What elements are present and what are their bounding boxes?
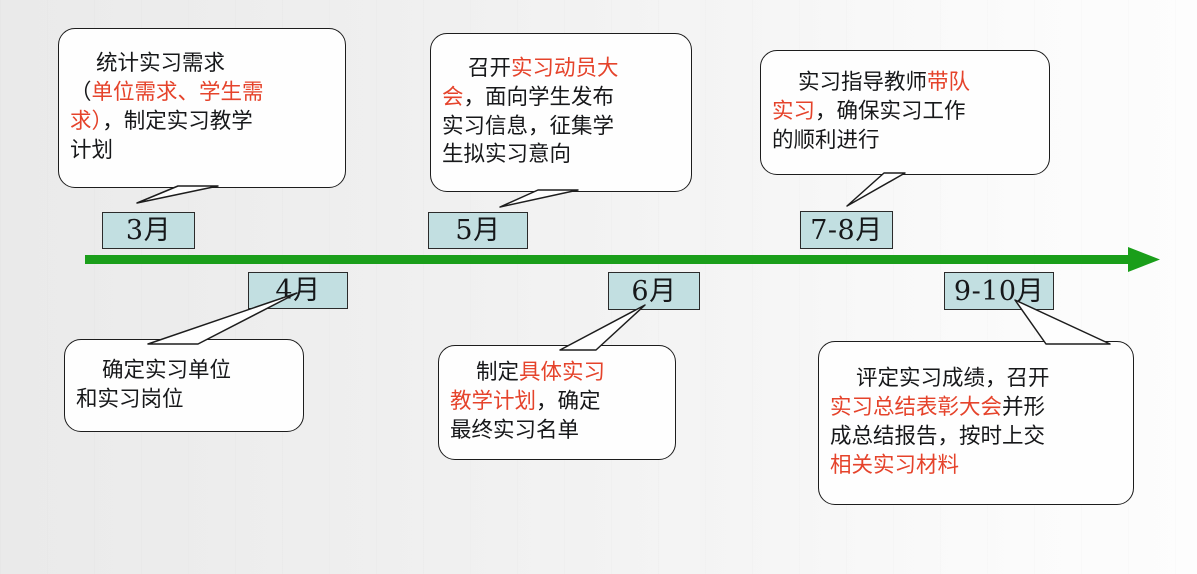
callout-march[interactable]: 统计实习需求（单位需求、学生需求），制定实习教学计划 <box>58 28 346 188</box>
callout-april-text: 确定实习单位和实习岗位 <box>65 357 303 415</box>
callout-june[interactable]: 制定具体实习教学计划，确定最终实习名单 <box>438 345 676 460</box>
callout-july-august[interactable]: 实习指导教师带队实习，确保实习工作的顺利进行 <box>760 50 1050 175</box>
milestone-chip-june[interactable]: 6月 <box>608 272 700 310</box>
milestone-chip-july-august[interactable]: 7-8月 <box>800 211 893 249</box>
milestone-chip-may[interactable]: 5月 <box>428 212 528 249</box>
callout-april[interactable]: 确定实习单位和实习岗位 <box>64 339 304 432</box>
callout-july-august-text: 实习指导教师带队实习，确保实习工作的顺利进行 <box>761 69 1049 155</box>
milestone-chip-september-october[interactable]: 9-10月 <box>944 272 1054 310</box>
callout-tail-c3 <box>847 173 905 206</box>
timeline-diagram: 统计实习需求（单位需求、学生需求），制定实习教学计划 召开实习动员大会，面向学生… <box>0 0 1197 574</box>
callout-september-october[interactable]: 评定实习成绩，召开实习总结表彰大会并形成总结报告，按时上交相关实习材料 <box>818 341 1134 505</box>
callout-september-october-text: 评定实习成绩，召开实习总结表彰大会并形成总结报告，按时上交相关实习材料 <box>819 365 1133 480</box>
milestone-chip-april[interactable]: 4月 <box>248 272 348 309</box>
timeline-arrow-icon <box>85 247 1160 272</box>
milestone-chip-march[interactable]: 3月 <box>102 212 195 249</box>
callout-march-text: 统计实习需求（单位需求、学生需求），制定实习教学计划 <box>59 50 345 165</box>
milestone-chip-july-august-label: 7-8月 <box>810 217 882 244</box>
callout-may[interactable]: 召开实习动员大会，面向学生发布实习信息，征集学生拟实习意向 <box>430 33 692 192</box>
milestone-chip-march-label: 3月 <box>126 217 171 244</box>
callout-tail-c1 <box>137 186 218 203</box>
milestone-chip-april-label: 4月 <box>275 277 320 304</box>
milestone-chip-june-label: 6月 <box>631 278 676 305</box>
callout-tail-c2 <box>500 190 578 207</box>
milestone-chip-september-october-label: 9-10月 <box>954 278 1044 305</box>
callout-may-text: 召开实习动员大会，面向学生发布实习信息，征集学生拟实习意向 <box>431 55 691 170</box>
callout-june-text: 制定具体实习教学计划，确定最终实习名单 <box>439 359 675 445</box>
callout-tail-c5 <box>560 305 645 350</box>
milestone-chip-may-label: 5月 <box>455 217 500 244</box>
